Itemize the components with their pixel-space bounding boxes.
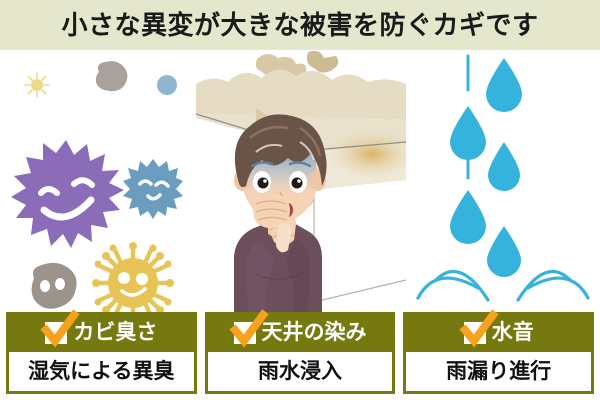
panel-ceiling-stain-person [196, 50, 406, 312]
card-head-label: 天井の染み [262, 322, 367, 343]
panel-mold-germs [0, 50, 196, 312]
check-icon [462, 314, 496, 346]
yellow-spiky-germ-icon [86, 236, 180, 312]
card-body-mold-smell: 湿気による異臭 [6, 352, 197, 394]
card-body-label: 湿気による異臭 [28, 361, 174, 382]
check-icon [43, 314, 77, 346]
card-water-sound[interactable]: 水音 雨漏り進行 [403, 312, 594, 394]
blue-dot-germ-icon [156, 74, 178, 96]
card-head-label: カビ臭さ [73, 322, 157, 343]
check-icon-wrap-2 [234, 320, 258, 344]
check-icon [232, 314, 266, 346]
card-mold-smell[interactable]: カビ臭さ 湿気による異臭 [6, 312, 197, 394]
caption-cards: カビ臭さ 湿気による異臭 天井の染み 雨水浸入 [0, 312, 600, 400]
check-icon-wrap-1 [45, 320, 69, 344]
card-head-ceiling-stain: 天井の染み [205, 312, 396, 352]
page-title: 小さな異変が大きな被害を防ぐカギです [61, 12, 538, 38]
card-body-ceiling-stain: 雨水浸入 [205, 352, 396, 394]
card-head-water-sound: 水音 [403, 312, 594, 352]
illustration-area [0, 50, 600, 312]
header-band: 小さな異変が大きな被害を防ぐカギです [0, 0, 600, 50]
card-body-label: 雨漏り進行 [446, 361, 551, 382]
panel-water-drops [406, 50, 600, 312]
card-body-water-sound: 雨漏り進行 [403, 352, 594, 394]
card-head-mold-smell: カビ臭さ [6, 312, 197, 352]
gray-blob-small-icon [90, 60, 130, 94]
blue-spiky-germ-icon [122, 158, 184, 220]
infographic-root: 小さな異変が大きな被害を防ぐカギです [0, 0, 600, 400]
gray-blob-germ-icon [24, 262, 80, 312]
small-yellow-germ-icon [24, 72, 50, 98]
card-head-label: 水音 [492, 322, 534, 343]
card-ceiling-stain[interactable]: 天井の染み 雨水浸入 [205, 312, 396, 394]
check-icon-wrap-3 [464, 320, 488, 344]
card-body-label: 雨水浸入 [258, 361, 342, 382]
